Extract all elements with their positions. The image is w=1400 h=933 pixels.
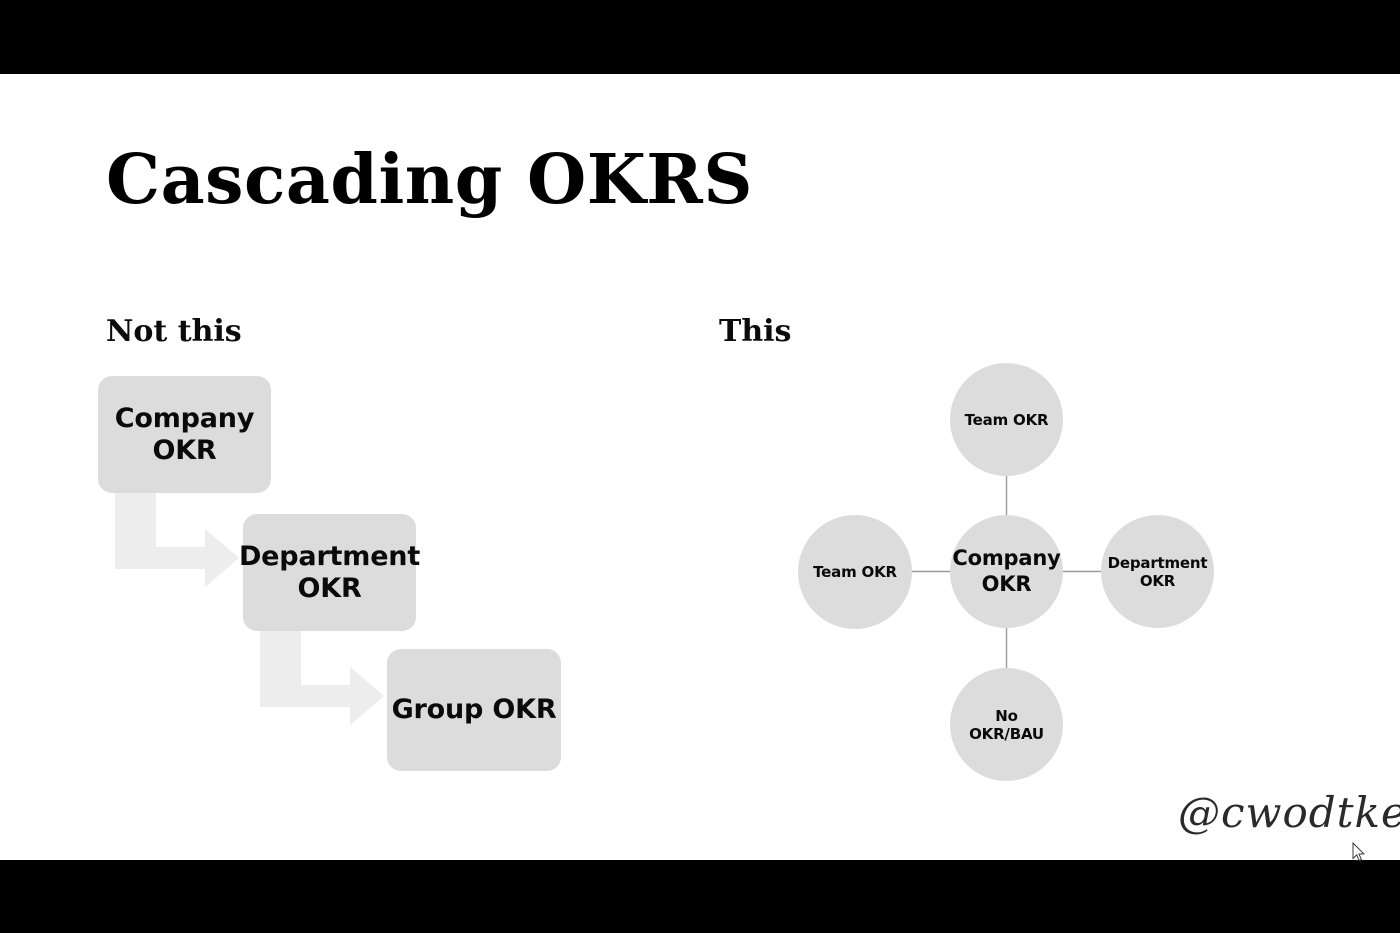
letterbox-bar-bottom <box>0 860 1400 933</box>
okr-box-group-label: Group OKR <box>392 694 557 726</box>
elbow-arrow-company-to-department <box>115 489 240 594</box>
okr-circle-company-hub-label: Company OKR <box>952 546 1060 596</box>
okr-circle-department-right[interactable]: Department OKR <box>1101 515 1214 628</box>
okr-box-company-label: Company OKR <box>115 403 254 467</box>
okr-box-company[interactable]: Company OKR <box>98 376 271 493</box>
okr-circle-team-top-label: Team OKR <box>965 411 1049 429</box>
letterbox-bar-top <box>0 0 1400 74</box>
okr-circle-team-left-label: Team OKR <box>813 563 897 581</box>
presentation-slide: Cascading OKRS Not this This Company OKR… <box>0 0 1400 933</box>
okr-circle-team-top[interactable]: Team OKR <box>950 363 1063 476</box>
okr-circle-no-okr-bau-bottom[interactable]: No OKR/BAU <box>950 668 1063 781</box>
okr-circle-company-hub[interactable]: Company OKR <box>950 515 1063 628</box>
okr-circle-team-left[interactable]: Team OKR <box>798 515 912 629</box>
okr-circle-no-okr-bau-bottom-label: No OKR/BAU <box>969 707 1044 743</box>
okr-box-department-label: Department OKR <box>239 541 420 605</box>
okr-box-department[interactable]: Department OKR <box>243 514 416 631</box>
okr-circle-department-right-label: Department OKR <box>1108 554 1208 590</box>
cascading-boxes-diagram: Company OKR Department OKR Group OKR <box>0 74 700 860</box>
slide-canvas: Cascading OKRS Not this This Company OKR… <box>0 74 1400 860</box>
hub-and-spoke-diagram: Team OKR Team OKR Company OKR Department… <box>700 74 1400 860</box>
okr-box-group[interactable]: Group OKR <box>387 649 561 771</box>
elbow-arrow-department-to-group <box>260 627 385 732</box>
